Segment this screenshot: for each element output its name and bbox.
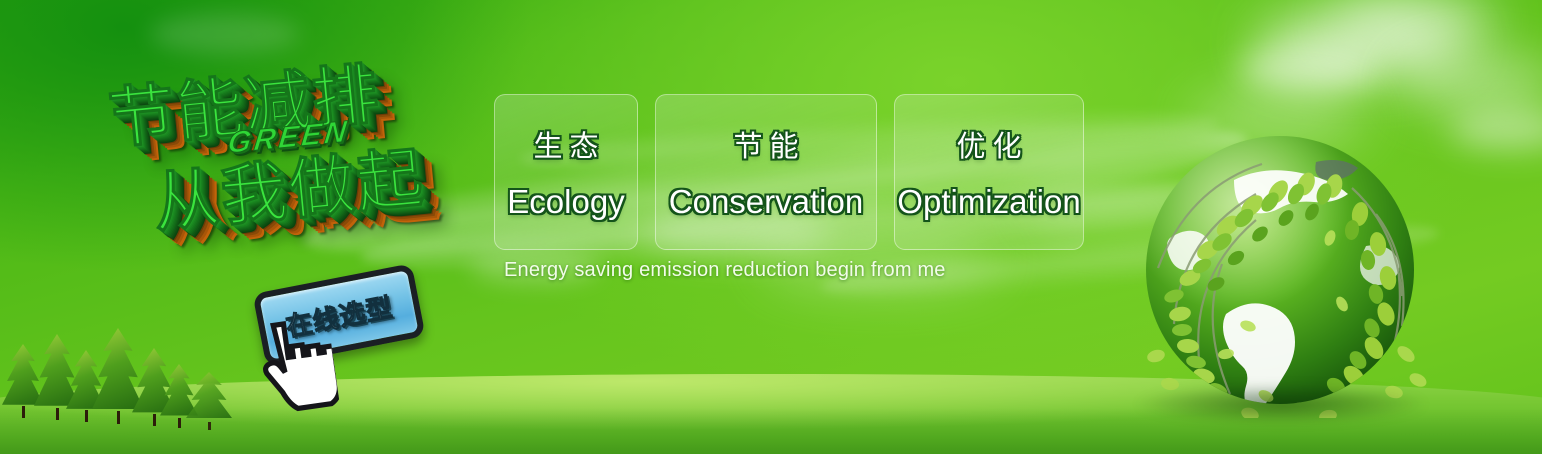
leafy-earth-globe: [1130, 118, 1430, 418]
feature-card-cn-label: 优化: [949, 123, 1028, 165]
feature-card-optimization[interactable]: 优化 Optimization: [894, 94, 1084, 250]
cloud-shape: [1238, 46, 1378, 92]
tagline-text: Energy saving emission reduction begin f…: [504, 259, 946, 282]
feature-card-cn-label: 生态: [526, 123, 605, 165]
feature-card-list: 生态 Ecology 节能 Conservation 优化 Optimizati…: [494, 94, 1084, 250]
cloud-shape: [1330, 0, 1500, 48]
hand-pointer-icon: [244, 313, 341, 420]
tree: [186, 376, 232, 430]
feature-card-en-label: Ecology: [507, 183, 624, 221]
cloud-shape: [1450, 110, 1542, 150]
cloud-shape: [1255, 10, 1465, 76]
feature-card-en-label: Optimization: [897, 183, 1080, 221]
feature-card-cn-label: 节能: [726, 123, 805, 165]
cloud-shape: [1400, 58, 1542, 110]
feature-card-conservation[interactable]: 节能 Conservation: [655, 94, 877, 250]
globe-shadow: [1136, 384, 1426, 424]
feature-card-en-label: Conservation: [669, 183, 863, 221]
feature-card-ecology[interactable]: 生态 Ecology: [494, 94, 638, 250]
headline-3d: 节能减排 从我做起 GREEN: [89, 23, 510, 300]
green-energy-banner: 节能减排 从我做起 GREEN 在线选型 生态 Ecology 节能 Conse…: [0, 0, 1542, 454]
